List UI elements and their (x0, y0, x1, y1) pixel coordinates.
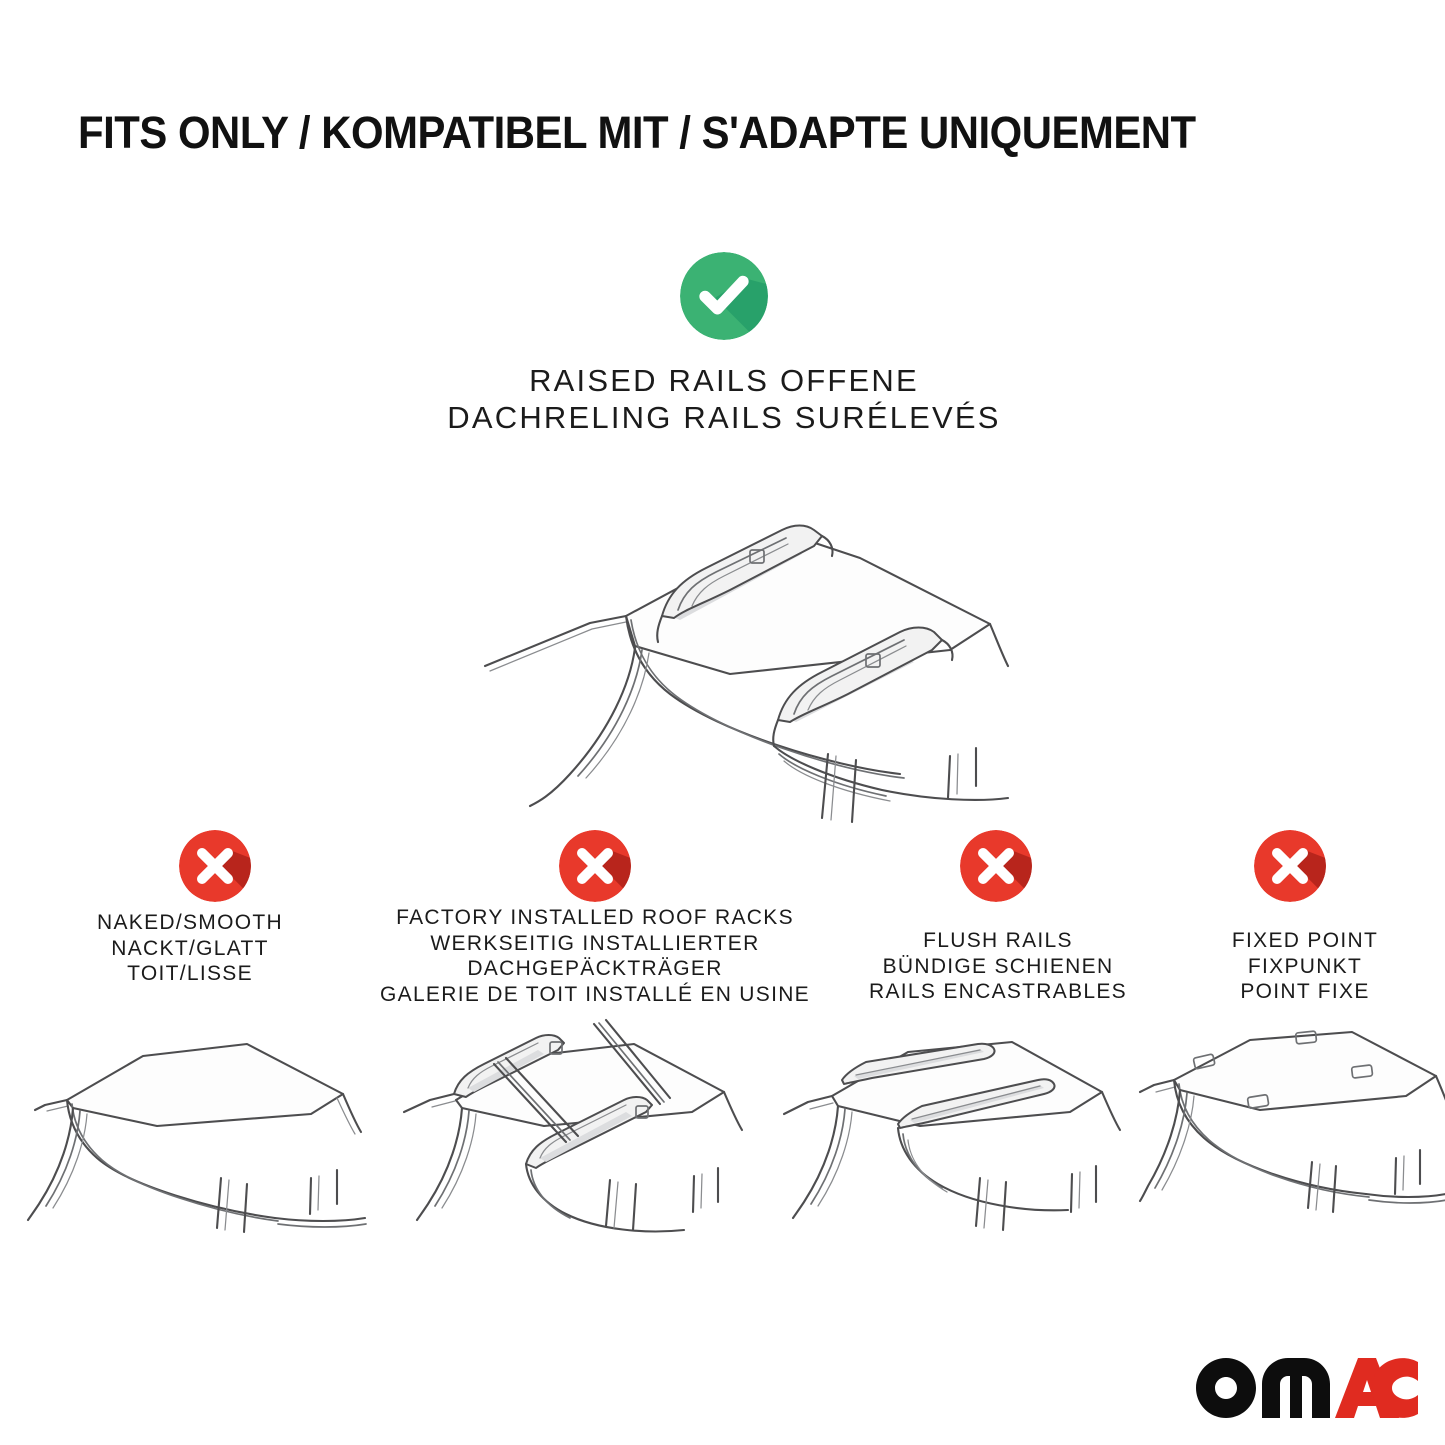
incompatible-heading-2: FACTORY INSTALLED ROOF RACKS WERKSEITIG … (360, 905, 830, 1007)
car-roof-with-factory-crossbars-illustration (398, 1012, 748, 1242)
compatible-heading: RAISED RAILS OFFENE DACHRELING RAILS SUR… (422, 362, 1026, 436)
incompatible-3-line-3: RAILS ENCASTRABLES (838, 979, 1158, 1005)
page-title: FITS ONLY / KOMPATIBEL MIT / S'ADAPTE UN… (78, 107, 1287, 159)
car-roof-bare-smooth-illustration (25, 1018, 375, 1243)
cross-icon (960, 830, 1032, 902)
car-roof-with-fixed-points-illustration (1140, 1018, 1445, 1246)
cross-icon (179, 830, 251, 902)
incompatible-4-line-3: POINT FIXE (1160, 979, 1445, 1005)
incompatible-4-line-2: FIXPUNKT (1160, 954, 1445, 980)
incompatible-1-line-3: TOIT/LISSE (45, 961, 335, 987)
incompatible-2-line-2: WERKSEITIG INSTALLIERTER (360, 931, 830, 957)
incompatible-heading-1: NAKED/SMOOTH NACKT/GLATT TOIT/LISSE (45, 910, 335, 987)
incompatible-heading-3: FLUSH RAILS BÜNDIGE SCHIENEN RAILS ENCAS… (838, 928, 1158, 1005)
incompatible-3-line-2: BÜNDIGE SCHIENEN (838, 954, 1158, 980)
incompatible-2-line-3: DACHGEPÄCKTRÄGER (360, 956, 830, 982)
cross-icon (559, 830, 631, 902)
incompatible-4-line-1: FIXED POINT (1160, 928, 1445, 954)
omac-logo (1196, 1358, 1418, 1418)
incompatible-3-line-1: FLUSH RAILS (838, 928, 1158, 954)
infographic-page: FITS ONLY / KOMPATIBEL MIT / S'ADAPTE UN… (0, 0, 1445, 1445)
car-roof-with-flush-rails-illustration (780, 1018, 1130, 1246)
incompatible-1-line-2: NACKT/GLATT (45, 936, 335, 962)
cross-icon (1254, 830, 1326, 902)
incompatible-1-line-1: NAKED/SMOOTH (45, 910, 335, 936)
incompatible-2-line-4: GALERIE DE TOIT INSTALLÉ EN USINE (360, 982, 830, 1008)
incompatible-2-line-1: FACTORY INSTALLED ROOF RACKS (360, 905, 830, 931)
compatible-heading-line-1: RAISED RAILS (529, 363, 769, 398)
compatible-heading-line-3: RAILS SURÉLEVÉS (683, 400, 1000, 435)
check-icon (680, 252, 768, 340)
car-roof-with-raised-rails-illustration (430, 498, 1030, 798)
incompatible-heading-4: FIXED POINT FIXPUNKT POINT FIXE (1160, 928, 1445, 1005)
